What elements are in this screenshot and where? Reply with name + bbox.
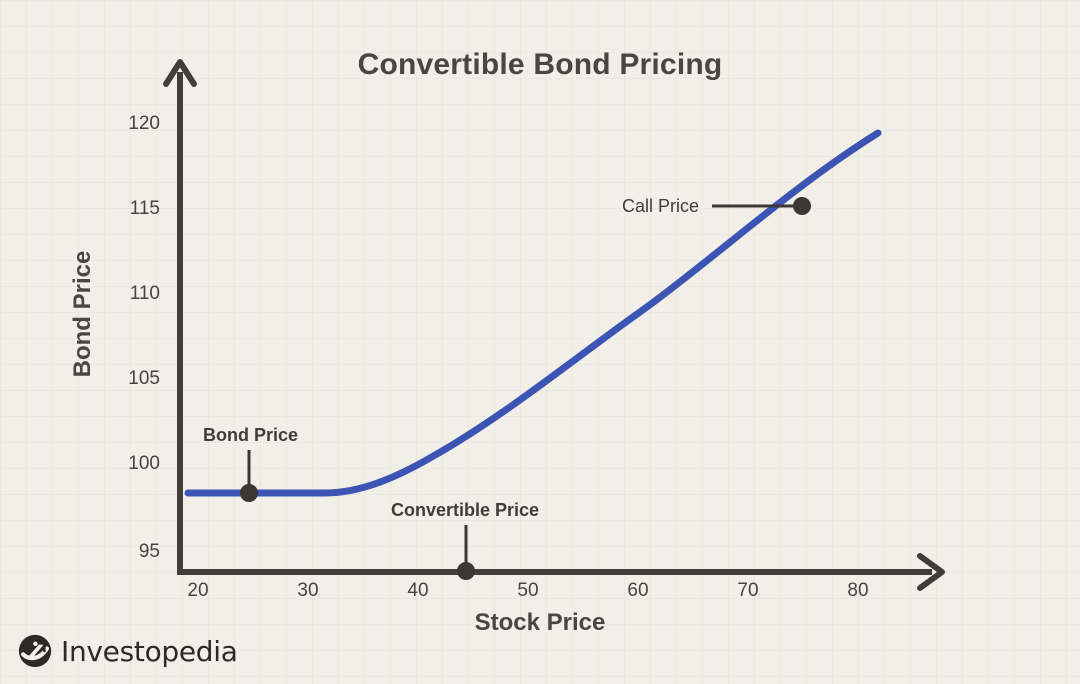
bond-price-marker-dot [240, 484, 258, 502]
chart-container: Convertible Bond Pricing 120 115 110 105… [0, 0, 1080, 684]
annotation-label-bond-price: Bond Price [203, 425, 298, 446]
y-axis-title: Bond Price [69, 214, 97, 414]
annotation-label-call-price: Call Price [622, 196, 699, 217]
chart-title: Convertible Bond Pricing [0, 48, 1080, 82]
x-tick-label-70: 70 [718, 580, 778, 602]
investopedia-mark-icon [18, 634, 52, 668]
y-tick-label-105: 105 [100, 368, 160, 390]
x-tick-label-60: 60 [608, 580, 668, 602]
x-tick-label-30: 30 [278, 580, 338, 602]
y-tick-label-100: 100 [100, 453, 160, 475]
x-tick-label-50: 50 [498, 580, 558, 602]
x-tick-label-20: 20 [168, 580, 228, 602]
x-tick-label-40: 40 [388, 580, 448, 602]
y-tick-label-95: 95 [100, 541, 160, 563]
y-tick-label-110: 110 [100, 283, 160, 305]
y-tick-label-120: 120 [100, 113, 160, 135]
investopedia-wordmark: Investopedia [61, 635, 238, 668]
call-price-marker-dot [793, 197, 811, 215]
x-axis-title: Stock Price [330, 609, 750, 637]
investopedia-logo: Investopedia [18, 634, 238, 668]
x-tick-label-80: 80 [828, 580, 888, 602]
y-tick-label-115: 115 [100, 198, 160, 220]
annotation-label-convertible-price: Convertible Price [391, 500, 539, 521]
convertible-price-marker-dot [457, 562, 475, 580]
